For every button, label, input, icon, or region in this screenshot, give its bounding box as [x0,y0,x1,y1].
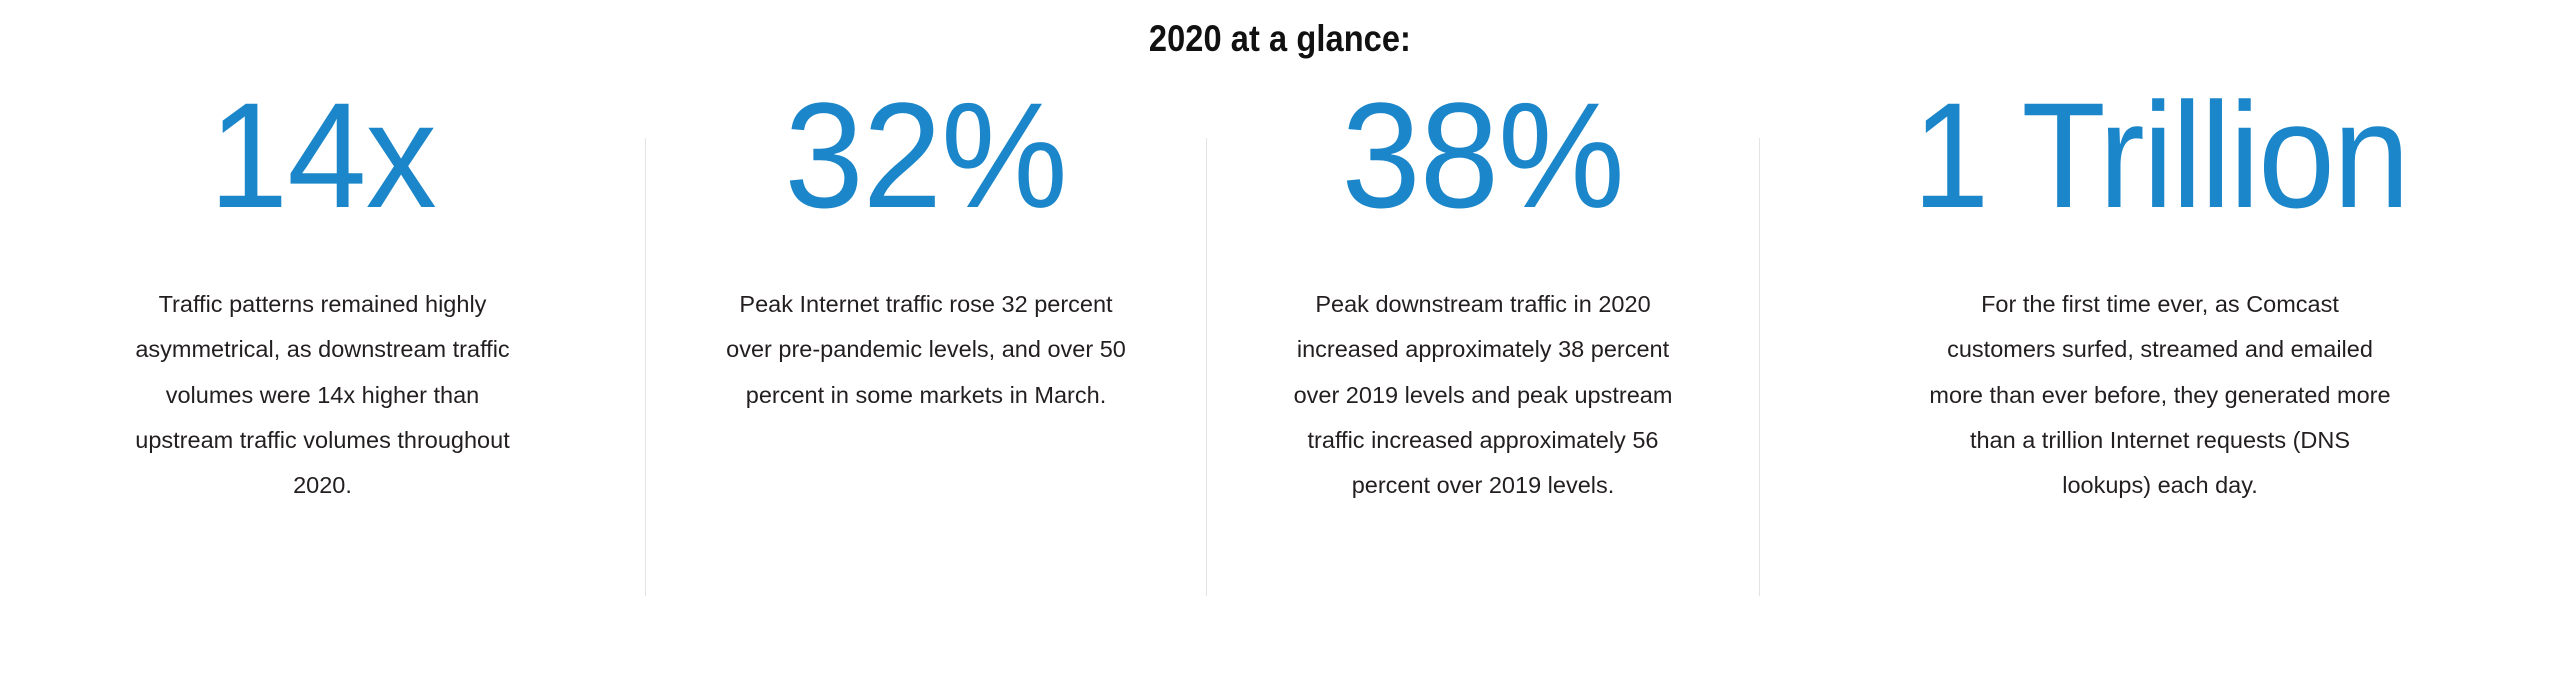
infographic-page: 2020 at a glance: 14x Traffic patterns r… [0,0,2560,674]
stat-description-1-trillion: For the first time ever, as Comcast cust… [1925,282,2395,509]
stat-value-32-percent: 32% [785,80,1067,230]
stat-card-1-trillion: 1 Trillion For the first time ever, as C… [1760,78,2560,674]
stat-value-14x: 14x [209,80,436,230]
stat-card-14x: 14x Traffic patterns remained highly asy… [0,78,645,674]
page-title: 2020 at a glance: [1149,18,1411,60]
stat-card-38-percent: 38% Peak downstream traffic in 2020 incr… [1207,78,1759,674]
stat-description-14x: Traffic patterns remained highly asymmet… [118,282,528,509]
stat-description-38-percent: Peak downstream traffic in 2020 increase… [1273,282,1693,509]
stat-value-1-trillion: 1 Trillion [1912,80,2407,230]
stat-value-38-percent: 38% [1342,80,1624,230]
stat-card-32-percent: 32% Peak Internet traffic rose 32 percen… [646,78,1206,674]
stats-grid: 14x Traffic patterns remained highly asy… [0,78,2560,674]
stat-description-32-percent: Peak Internet traffic rose 32 percent ov… [726,282,1126,418]
title-row: 2020 at a glance: [0,0,2560,78]
